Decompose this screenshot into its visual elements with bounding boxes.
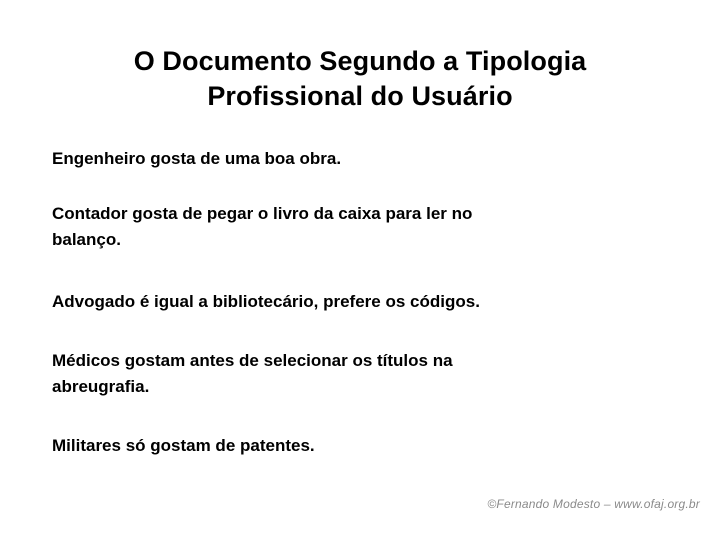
title-line-2: Profissional do Usuário (40, 79, 680, 114)
title-line-1: O Documento Segundo a Tipologia (40, 44, 680, 79)
paragraph-advogado: Advogado é igual a bibliotecário, prefer… (52, 289, 668, 315)
footer-credit: ©Fernando Modesto – www.ofaj.org.br (487, 497, 700, 511)
paragraph-contador: Contador gosta de pegar o livro da caixa… (52, 201, 668, 253)
paragraph-militares: Militares só gostam de patentes. (52, 433, 668, 459)
slide-canvas: O Documento Segundo a Tipologia Profissi… (0, 0, 720, 540)
paragraph-contador-line-1: Contador gosta de pegar o livro da caixa… (52, 201, 668, 227)
paragraph-contador-line-2: balanço. (52, 227, 668, 253)
paragraph-medicos-line-2: abreugrafia. (52, 374, 668, 400)
paragraph-engenheiro-line-1: Engenheiro gosta de uma boa obra. (52, 146, 668, 172)
paragraph-advogado-line-1: Advogado é igual a bibliotecário, prefer… (52, 289, 668, 315)
body-content: Engenheiro gosta de uma boa obra. Contad… (52, 146, 668, 459)
paragraph-medicos-line-1: Médicos gostam antes de selecionar os tí… (52, 348, 668, 374)
paragraph-militares-line-1: Militares só gostam de patentes. (52, 433, 668, 459)
paragraph-engenheiro: Engenheiro gosta de uma boa obra. (52, 146, 668, 172)
page-title: O Documento Segundo a Tipologia Profissi… (40, 44, 680, 114)
paragraph-medicos: Médicos gostam antes de selecionar os tí… (52, 348, 668, 400)
